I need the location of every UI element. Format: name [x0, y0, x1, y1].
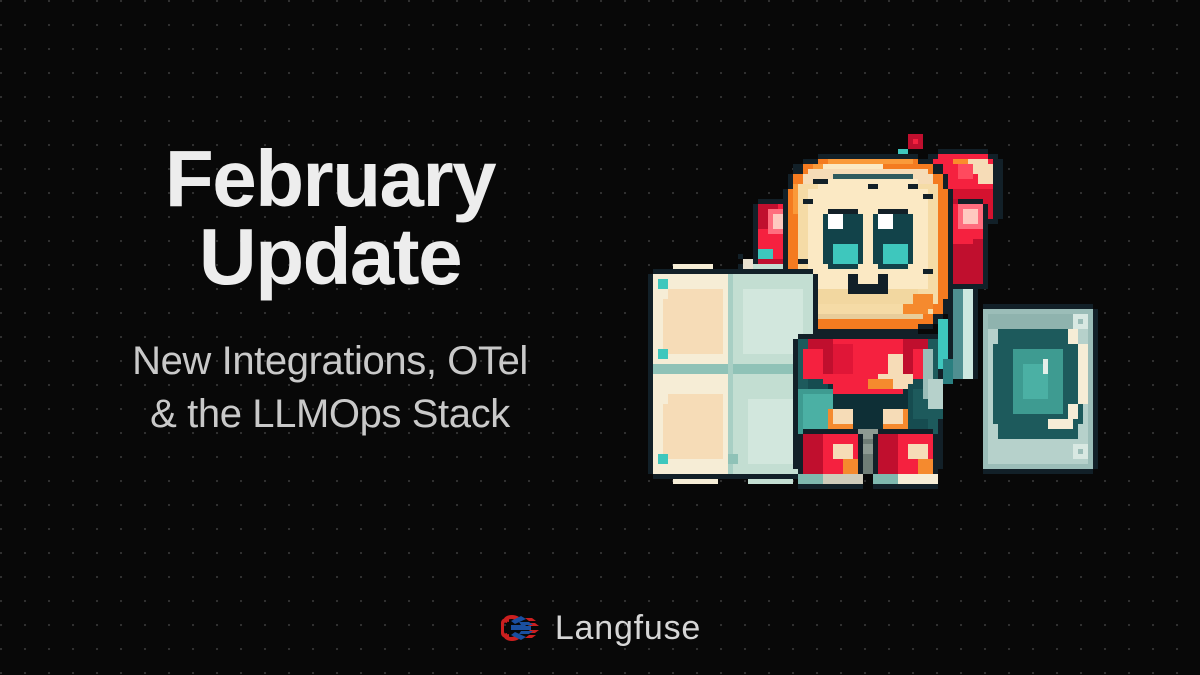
headline-line-2: Update	[60, 218, 600, 296]
subtitle-line-1: New Integrations, OTel	[60, 335, 600, 388]
langfuse-logo-icon	[499, 612, 541, 644]
window-pane-panel	[648, 264, 818, 484]
page-title: February Update	[60, 140, 600, 297]
headline-line-1: February	[60, 140, 600, 218]
pixel-art-robot-illustration	[648, 118, 1138, 510]
subtitle-line-2: & the LLMOps Stack	[60, 388, 600, 441]
page-subtitle: New Integrations, OTel & the LLMOps Stac…	[60, 335, 600, 441]
brand-lockup: Langfuse	[0, 600, 1200, 656]
robot-ear-right	[948, 199, 988, 289]
promo-banner: February Update New Integrations, OTel &…	[0, 0, 1200, 675]
brand-name: Langfuse	[555, 611, 701, 645]
headline-block: February Update New Integrations, OTel &…	[60, 140, 600, 440]
speaker-box	[983, 304, 1098, 474]
